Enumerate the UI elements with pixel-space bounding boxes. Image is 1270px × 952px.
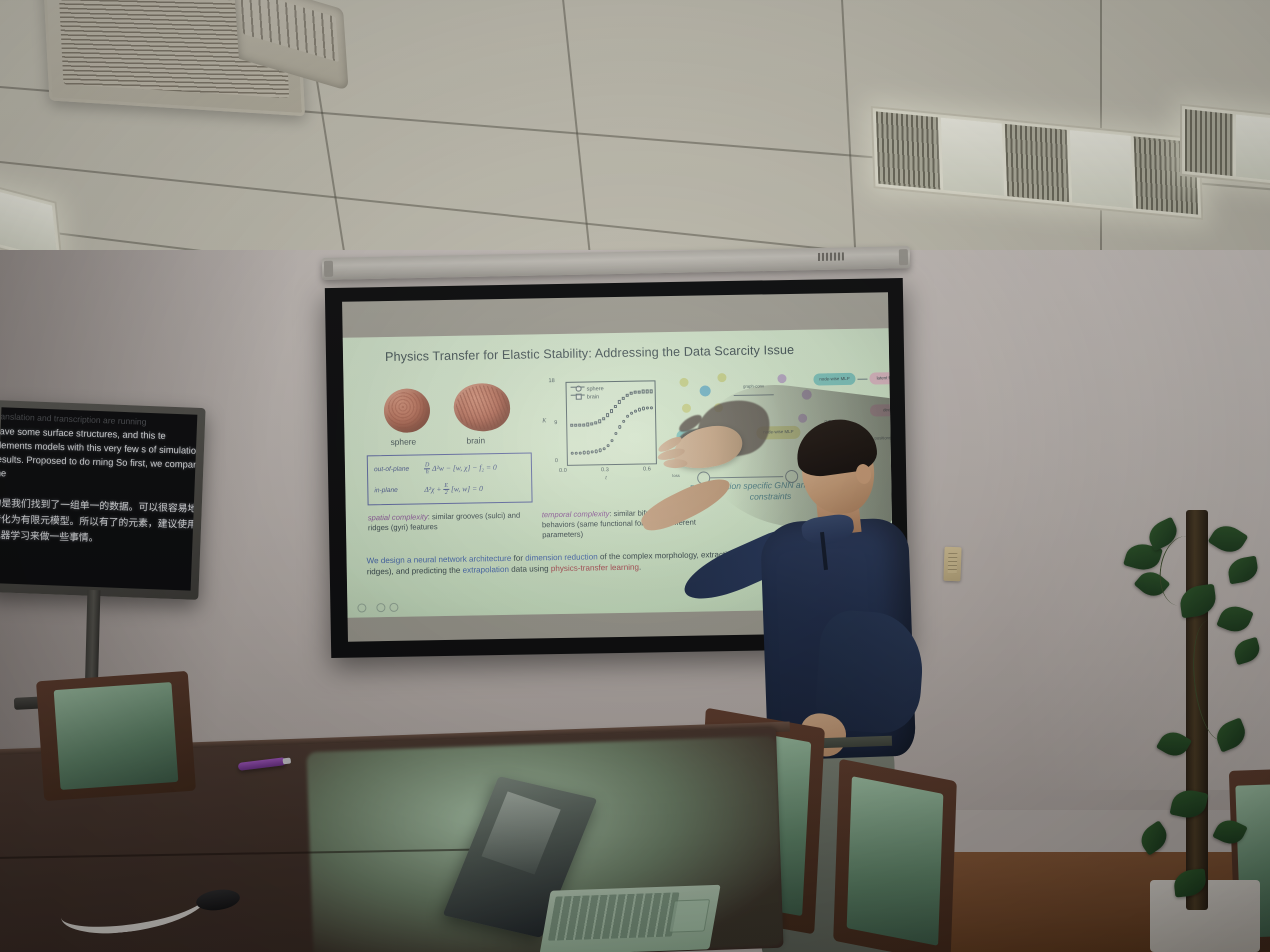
y-axis-label: K (542, 418, 546, 424)
ytick-9: 9 (554, 420, 557, 426)
xtick-0: 0.0 (559, 468, 567, 474)
chart-point-brain (594, 421, 597, 424)
presenter-toolbar[interactable] (357, 603, 398, 613)
chair[interactable] (833, 759, 957, 952)
xtick-mid: 0.3 (601, 467, 609, 473)
chart-point-brain (570, 423, 573, 426)
chart-point-brain (602, 417, 605, 420)
chart-point-sphere (638, 408, 641, 411)
equation-row-out-of-plane: out-of-plane Dh Δ²w − [w, χ] − f₂ = 0 (374, 460, 525, 476)
chart-point-brain (650, 390, 653, 393)
chart-point-brain (618, 400, 621, 403)
housing-vent-icon (818, 252, 844, 261)
bottom-text-part8: . (639, 563, 641, 572)
bottom-text-part2: for (511, 554, 525, 563)
chart-point-brain (574, 423, 577, 426)
chart-point-sphere (583, 451, 586, 454)
graph-node (717, 373, 726, 382)
ytick-0: 0 (555, 458, 558, 464)
caption-chinese: 的是我们找到了一组单一的数据。可以很容易地转化为有限元模型。所以有了的元素，建议… (0, 496, 197, 549)
chart-point-sphere (618, 425, 621, 428)
chart-point-brain (586, 423, 589, 426)
laptop-keyboard[interactable] (548, 892, 680, 941)
laptop-base[interactable] (539, 885, 720, 952)
chart-data-points (567, 381, 655, 383)
equation-label-out-of-plane: out-of-plane (374, 466, 416, 474)
loss-label: loss (667, 474, 685, 479)
gnn-node-latent-features: latent features (869, 372, 893, 385)
bottom-text-part6: data using (509, 565, 551, 575)
chart-point-brain (626, 393, 629, 396)
bifurcation-chart: sphere brain 18 9 0 K 0.0 0.3 0.6 t (541, 378, 661, 484)
legend-brain: brain (587, 395, 600, 401)
chart-point-sphere (571, 451, 574, 454)
chart-point-brain (598, 420, 601, 423)
governing-equations-box: out-of-plane Dh Δ²w − [w, χ] − f₂ = 0 in… (367, 452, 533, 505)
chart-point-sphere (646, 406, 649, 409)
chart-point-brain (578, 423, 581, 426)
chart-point-brain (590, 422, 593, 425)
chair[interactable] (36, 671, 196, 801)
arrow-mlp-to-latent (857, 379, 867, 380)
brain-model-image (452, 381, 512, 434)
chart-point-brain (610, 409, 613, 412)
chart-plot-area: sphere brain (565, 380, 656, 466)
temporal-complexity-key: temporal complexity (542, 509, 610, 519)
chart-point-sphere (634, 409, 637, 412)
equation-label-in-plane: in-plane (374, 487, 416, 495)
chart-point-sphere (610, 439, 613, 442)
pointer-icon[interactable] (376, 603, 385, 612)
chart-point-sphere (607, 444, 610, 447)
ytick-18: 18 (548, 378, 554, 384)
chart-point-sphere (591, 450, 594, 453)
equation-formula-out-of-plane: Dh Δ²w − [w, χ] − f₂ = 0 (424, 461, 497, 476)
chart-point-sphere (650, 406, 653, 409)
caption-monitor[interactable]: translation and transcription are runnin… (0, 400, 206, 600)
chart-point-sphere (626, 415, 629, 418)
prev-arrow-icon[interactable] (357, 603, 366, 612)
sphere-label: sphere (390, 437, 416, 447)
chart-point-sphere (614, 432, 617, 435)
bottom-text-part3: dimension reduction (525, 552, 598, 562)
chart-point-brain (582, 423, 585, 426)
chart-point-sphere (622, 420, 625, 423)
sphere-model-image (384, 388, 431, 433)
chart-point-brain (630, 392, 633, 395)
x-axis-label: t (605, 475, 607, 481)
conference-room-photo: Physics Transfer for Elastic Stability: … (0, 0, 1270, 952)
bottom-text-part5: extrapolation (463, 565, 510, 575)
chart-point-sphere (579, 451, 582, 454)
graph-conv-label: graph-conv (732, 384, 776, 390)
chart-point-sphere (630, 411, 633, 414)
chart-point-brain (634, 391, 637, 394)
spatial-complexity-key: spatial complexity (368, 512, 428, 522)
ceiling (0, 0, 1270, 268)
spatial-complexity-caption: spatial complexity: similar grooves (sul… (368, 511, 528, 534)
chart-point-sphere (575, 451, 578, 454)
chart-point-brain (642, 390, 645, 393)
equation-row-in-plane: in-plane Δ²χ + E2 [w, w] = 0 (374, 481, 525, 497)
laptop-trackpad[interactable] (668, 899, 710, 932)
bottom-text-part7: physics-transfer learning (551, 563, 639, 574)
graph-node-center (700, 385, 711, 396)
equation-formula-in-plane: Δ²χ + E2 [w, w] = 0 (424, 482, 483, 497)
chart-point-brain (638, 390, 641, 393)
chart-point-brain (622, 396, 625, 399)
chart-legend: sphere brain (571, 385, 604, 402)
xtick-max: 0.6 (643, 466, 651, 472)
chart-point-sphere (587, 451, 590, 454)
chart-point-sphere (595, 450, 598, 453)
caption-english: have some surface structures, and this t… (0, 424, 197, 486)
graph-node (679, 378, 688, 387)
caption-monitor-screen: translation and transcription are runnin… (0, 407, 197, 590)
menu-icon[interactable] (389, 603, 398, 612)
chart-point-brain (646, 390, 649, 393)
legend-sphere: sphere (587, 386, 604, 392)
chart-point-brain (614, 405, 617, 408)
potted-climbing-plant (1120, 500, 1270, 952)
gnn-node-mlp-3: node-wise MLP (813, 373, 855, 386)
chart-point-sphere (599, 449, 602, 452)
slide-title: Physics Transfer for Elastic Stability: … (385, 342, 855, 364)
collapse-chevron-icon[interactable]: ‹ (182, 500, 186, 511)
chart-point-sphere (642, 407, 645, 410)
chart-point-brain (606, 414, 609, 417)
graph-conv-arrow (734, 394, 774, 395)
brain-label: brain (466, 435, 485, 445)
chart-point-sphere (603, 447, 606, 450)
bottom-text-part1: We design a neural network architecture (367, 554, 512, 566)
